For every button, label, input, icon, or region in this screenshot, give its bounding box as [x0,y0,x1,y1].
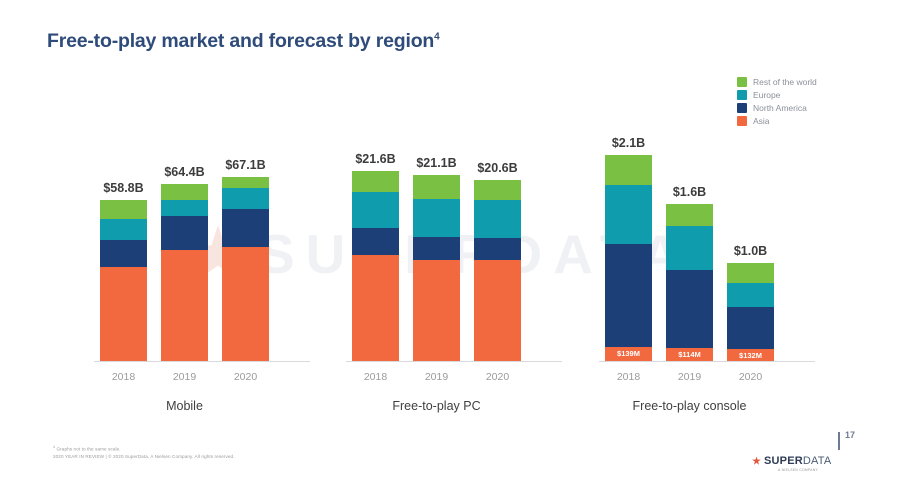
logo-text-bold: SUPER [764,455,803,467]
panel-group-label: Free-to-play console [633,399,747,413]
bar-segment[interactable] [666,226,713,269]
bar-total-label: $1.6B [673,185,706,199]
logo-subtitle: A NIELSEN COMPANY [778,468,818,472]
stacked-bar[interactable]: $64.4B [161,184,208,361]
bar-segment[interactable] [352,171,399,192]
footnote-line-1: 4 Graphs not to the same scale. [53,444,235,453]
bar-segment[interactable] [474,180,521,200]
bar-segment[interactable] [413,175,460,199]
chart-plot-area: $58.8B2018$64.4B2019$67.1B2020Mobile$21.… [0,0,899,487]
bar-segment[interactable]: $139M [605,347,652,361]
panel-group-label: Free-to-play PC [392,399,480,413]
bar-segment[interactable] [605,244,652,348]
bar-segment[interactable] [100,240,147,267]
x-axis-tick-label: 2020 [739,371,762,383]
logo-text: SUPERDATA [764,455,831,467]
page-number: 17 [845,430,855,440]
stacked-bar[interactable]: $20.6B [474,180,521,361]
x-axis-tick-label: 2020 [486,371,509,383]
bar-segment[interactable] [352,255,399,361]
star-icon [752,457,761,466]
bar-segment[interactable] [100,219,147,240]
stacked-bar[interactable]: $21.6B [352,171,399,361]
bar-segment[interactable] [605,155,652,185]
bar-segment[interactable] [352,228,399,255]
bar-segment[interactable] [161,200,208,216]
bar-segment[interactable] [605,185,652,244]
x-axis-tick-label: 2018 [617,371,640,383]
bar-total-label: $1.0B [734,244,767,258]
axis-baseline [94,361,310,362]
bar-segment[interactable] [161,184,208,200]
bar-segment[interactable] [727,263,774,283]
bar-base-value-label: $114M [666,350,713,360]
bar-segment[interactable] [100,267,147,361]
footnote-line-1-text: Graphs not to the same scale. [57,447,121,452]
superdata-logo: SUPERDATA [752,455,831,467]
x-axis-tick-label: 2019 [678,371,701,383]
panel-group-label: Mobile [166,399,203,413]
bar-segment[interactable] [413,199,460,237]
bar-segment[interactable] [222,188,269,210]
axis-baseline [599,361,815,362]
bar-segment[interactable] [222,209,269,247]
bar-segment[interactable] [474,238,521,261]
stacked-bar[interactable]: $58.8B [100,200,147,361]
footnote-block: 4 Graphs not to the same scale. 2020 YEA… [53,444,235,461]
bar-total-label: $21.6B [355,152,395,166]
bar-total-label: $2.1B [612,136,645,150]
bar-total-label: $20.6B [477,161,517,175]
stacked-bar[interactable]: $67.1B [222,177,269,361]
footnote-marker: 4 [53,445,55,449]
axis-baseline [346,361,562,362]
logo-text-light: DATA [803,455,832,467]
bar-total-label: $64.4B [164,165,204,179]
bar-total-label: $67.1B [225,158,265,172]
stacked-bar[interactable]: $21.1B [413,175,460,361]
bar-segment[interactable] [413,260,460,361]
bar-base-value-label: $132M [727,351,774,361]
bar-total-label: $58.8B [103,181,143,195]
bar-segment[interactable] [161,216,208,250]
bar-segment[interactable]: $114M [666,348,713,361]
bar-segment[interactable] [727,307,774,349]
bar-segment[interactable]: $132M [727,349,774,361]
stacked-bar[interactable]: $114M$1.6B [666,204,713,361]
bar-segment[interactable] [474,260,521,361]
bar-segment[interactable] [161,250,208,362]
bar-segment[interactable] [666,204,713,226]
footnote-line-2: 2020 YEAR IN REVIEW | © 2020 SuperData, … [53,453,235,461]
x-axis-tick-label: 2018 [112,371,135,383]
bar-segment[interactable] [727,283,774,307]
bar-base-value-label: $139M [605,349,652,359]
bar-segment[interactable] [413,237,460,259]
page-number-rule [838,432,840,450]
bar-segment[interactable] [222,177,269,188]
bar-segment[interactable] [666,270,713,348]
x-axis-tick-label: 2018 [364,371,387,383]
stacked-bar[interactable]: $139M$2.1B [605,155,652,361]
bar-segment[interactable] [222,247,269,361]
bar-total-label: $21.1B [416,156,456,170]
x-axis-tick-label: 2020 [234,371,257,383]
x-axis-tick-label: 2019 [425,371,448,383]
slide-canvas: Free-to-play market and forecast by regi… [0,0,899,487]
bar-segment[interactable] [474,200,521,237]
stacked-bar[interactable]: $132M$1.0B [727,263,774,361]
bar-segment[interactable] [352,192,399,227]
bar-segment[interactable] [100,200,147,219]
x-axis-tick-label: 2019 [173,371,196,383]
